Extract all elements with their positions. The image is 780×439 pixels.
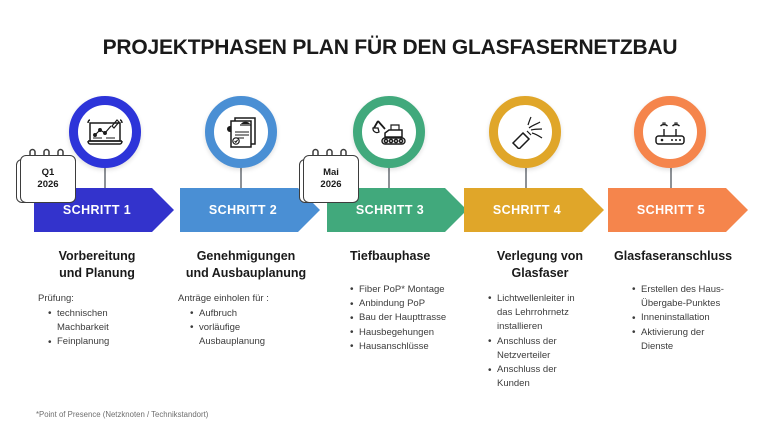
step-bullets-3: Fiber PoP* Montage Anbindung PoP Bau der… <box>330 283 470 354</box>
calendar-body: Q1 2026 <box>20 155 76 203</box>
step-arrow-label-3: SCHRITT 3 <box>356 203 424 217</box>
list-item: Anbindung PoP <box>350 297 470 311</box>
calendar-line1: Q1 <box>42 167 55 179</box>
list-item: Hausbegehungen <box>350 326 470 340</box>
step-title-1: Vorbereitungund Planung <box>22 248 172 282</box>
step-lead-2: Anträge einholen für : <box>168 292 324 306</box>
step-lead-1: Prüfung: <box>22 292 172 306</box>
step-arrow-4[interactable]: SCHRITT 4 <box>464 188 604 232</box>
list-item: Feinplanung <box>48 335 172 349</box>
list-item: Anschluss derNetzverteiler <box>488 335 610 364</box>
step-circle-2[interactable] <box>205 96 277 168</box>
excavator-icon <box>369 116 409 148</box>
list-item: vorläufigeAusbauplanung <box>190 321 324 350</box>
step-circle-4[interactable] <box>489 96 561 168</box>
calendar-line2: 2026 <box>37 179 58 191</box>
step-circle-5[interactable] <box>634 96 706 168</box>
list-item: Aufbruch <box>190 307 324 321</box>
list-item: Bau der Haupttrasse <box>350 311 470 325</box>
list-item: Inneninstallation <box>632 311 768 325</box>
calendar-line1: Mai <box>323 167 339 179</box>
list-item: Aktivierung derDienste <box>632 326 768 355</box>
step-arrow-label-2: SCHRITT 2 <box>209 203 277 217</box>
step-arrow-label-1: SCHRITT 1 <box>63 203 131 217</box>
step-bullets-4: Lichtwellenleiter indas Lehrrohrnetzinst… <box>470 292 610 392</box>
wifi-router-icon <box>651 116 689 148</box>
page-title: PROJEKTPHASEN PLAN FÜR DEN GLASFASERNETZ… <box>0 36 780 60</box>
steps-arrow-band: SCHRITT 1 SCHRITT 2 SCHRITT 3 SCHRITT 4 … <box>0 188 780 232</box>
step-circle-3[interactable] <box>353 96 425 168</box>
step-column-2: Genehmigungenund Ausbauplanung Anträge e… <box>168 248 324 349</box>
list-item: Fiber PoP* Montage <box>350 283 470 297</box>
step-arrow-5[interactable]: SCHRITT 5 <box>608 188 748 232</box>
calendar-body: Mai 2026 <box>303 155 359 203</box>
step-title-5: Glasfaseranschluss <box>608 248 768 265</box>
step-column-1: Vorbereitungund Planung Prüfung: technis… <box>22 248 172 349</box>
list-item: Lichtwellenleiter indas Lehrrohrnetzinst… <box>488 292 610 335</box>
step-details-columns: Vorbereitungund Planung Prüfung: technis… <box>0 248 780 398</box>
list-item: technischenMachbarkeit <box>48 307 172 336</box>
step-bullets-5: Erstellen des Haus-Übergabe-Punktes Inne… <box>608 283 768 354</box>
fiber-optic-cable-icon <box>507 115 543 149</box>
calendar-q1-2026: Q1 2026 <box>16 146 80 204</box>
step-title-2: Genehmigungenund Ausbauplanung <box>168 248 324 282</box>
list-item: Erstellen des Haus-Übergabe-Punktes <box>632 283 768 312</box>
footnote: *Point of Presence (Netzknoten / Technik… <box>36 410 208 419</box>
step-arrow-label-5: SCHRITT 5 <box>637 203 705 217</box>
calendar-mai-2026: Mai 2026 <box>299 146 363 204</box>
step-title-4: Verlegung vonGlasfaser <box>470 248 610 282</box>
step-column-5: Glasfaseranschluss Erstellen des Haus-Üb… <box>608 248 768 354</box>
calendar-line2: 2026 <box>320 179 341 191</box>
step-column-3: Tiefbauphase Fiber PoP* Montage Anbindun… <box>330 248 470 354</box>
permit-document-icon <box>223 115 259 149</box>
blueprint-chart-icon <box>86 115 124 149</box>
step-column-4: Verlegung vonGlasfaser Lichtwellenleiter… <box>470 248 610 392</box>
step-bullets-2: Aufbruch vorläufigeAusbauplanung <box>168 307 324 350</box>
step-bullets-1: technischenMachbarkeit Feinplanung <box>22 307 172 350</box>
list-item: Anschluss derKunden <box>488 363 610 392</box>
step-arrow-label-4: SCHRITT 4 <box>493 203 561 217</box>
step-title-3: Tiefbauphase <box>330 248 470 265</box>
step-icons-row <box>0 96 780 176</box>
list-item: Hausanschlüsse <box>350 340 470 354</box>
